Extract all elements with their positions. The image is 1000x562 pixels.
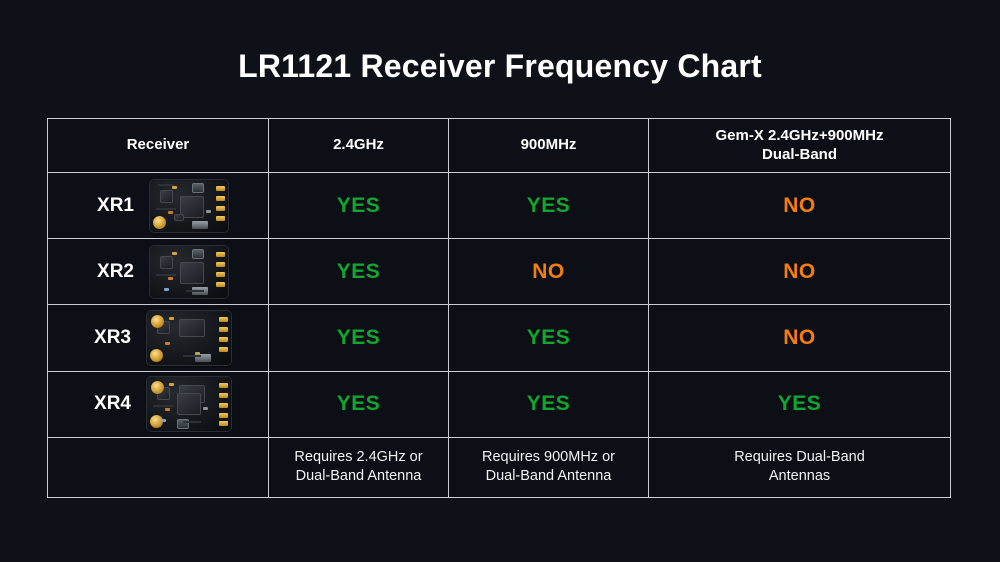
value-xr3-dual-band: NO bbox=[783, 326, 816, 349]
page-title: LR1121 Receiver Frequency Chart bbox=[0, 48, 1000, 85]
note-text-dual-band: Requires Dual-Band Antennas bbox=[649, 448, 950, 487]
note-900mhz-line1: Requires 900MHz or bbox=[482, 449, 615, 465]
pcb-board-xr3-image bbox=[147, 311, 231, 365]
cell-xr3-2-4ghz: YES bbox=[269, 305, 449, 371]
table-row: XR2 bbox=[48, 239, 951, 305]
receiver-frequency-table: Receiver 2.4GHz 900MHz Gem-X 2.4GHz+900M… bbox=[47, 118, 951, 498]
note-text-900mhz: Requires 900MHz or Dual-Band Antenna bbox=[449, 448, 648, 487]
cell-xr1-2-4ghz: YES bbox=[269, 173, 449, 239]
value-xr2-900mhz: NO bbox=[532, 260, 565, 283]
note-text-2-4ghz: Requires 2.4GHz or Dual-Band Antenna bbox=[269, 448, 448, 487]
receiver-label-xr1: XR1 bbox=[88, 195, 134, 217]
receiver-label-xr2: XR2 bbox=[88, 261, 134, 283]
pcb-board-xr4-image bbox=[147, 377, 231, 431]
receiver-label-xr3: XR3 bbox=[85, 327, 131, 349]
table-row: XR4 bbox=[48, 371, 951, 437]
note-cell-900mhz: Requires 900MHz or Dual-Band Antenna bbox=[449, 437, 649, 497]
value-xr4-900mhz: YES bbox=[527, 392, 571, 415]
cell-xr2-2-4ghz: YES bbox=[269, 239, 449, 305]
cell-xr4-dual-band: YES bbox=[649, 371, 951, 437]
pcb-board-xr1-image bbox=[150, 180, 228, 232]
table-row: XR3 bbox=[48, 305, 951, 371]
note-cell-2-4ghz: Requires 2.4GHz or Dual-Band Antenna bbox=[269, 437, 449, 497]
header-cell-receiver: Receiver bbox=[48, 119, 269, 173]
cell-xr1-dual-band: NO bbox=[649, 173, 951, 239]
header-cell-900mhz: 900MHz bbox=[449, 119, 649, 173]
header-cell-dual-band: Gem-X 2.4GHz+900MHz Dual-Band bbox=[649, 119, 951, 173]
value-xr3-900mhz: YES bbox=[527, 326, 571, 349]
receiver-cell-xr2: XR2 bbox=[48, 239, 269, 305]
value-xr3-2-4ghz: YES bbox=[337, 326, 381, 349]
header-dual-band-line1: Gem-X 2.4GHz+900MHz bbox=[716, 127, 884, 144]
value-xr1-dual-band: NO bbox=[783, 194, 816, 217]
header-label-dual-band: Gem-X 2.4GHz+900MHz Dual-Band bbox=[649, 127, 950, 165]
receiver-cell-xr4: XR4 bbox=[48, 371, 269, 437]
receiver-cell-xr3: XR3 bbox=[48, 305, 269, 371]
cell-xr2-900mhz: NO bbox=[449, 239, 649, 305]
cell-xr2-dual-band: NO bbox=[649, 239, 951, 305]
table-header-row: Receiver 2.4GHz 900MHz Gem-X 2.4GHz+900M… bbox=[48, 119, 951, 173]
table-row: XR1 bbox=[48, 173, 951, 239]
value-xr1-2-4ghz: YES bbox=[337, 194, 381, 217]
note-cell-empty bbox=[48, 437, 269, 497]
header-label-2-4ghz: 2.4GHz bbox=[269, 136, 448, 155]
cell-xr4-900mhz: YES bbox=[449, 371, 649, 437]
frequency-chart-page: LR1121 Receiver Frequency Chart Receiver… bbox=[0, 0, 1000, 562]
cell-xr4-2-4ghz: YES bbox=[269, 371, 449, 437]
table-note-row: Requires 2.4GHz or Dual-Band Antenna Req… bbox=[48, 437, 951, 497]
value-xr1-900mhz: YES bbox=[527, 194, 571, 217]
note-dual-band-line2: Antennas bbox=[769, 468, 830, 484]
header-dual-band-line2: Dual-Band bbox=[762, 146, 837, 163]
pcb-board-xr2-image bbox=[150, 246, 228, 298]
cell-xr1-900mhz: YES bbox=[449, 173, 649, 239]
cell-xr3-dual-band: NO bbox=[649, 305, 951, 371]
header-label-900mhz: 900MHz bbox=[449, 136, 648, 155]
header-cell-2-4ghz: 2.4GHz bbox=[269, 119, 449, 173]
note-2-4ghz-line2: Dual-Band Antenna bbox=[296, 468, 422, 484]
value-xr2-2-4ghz: YES bbox=[337, 260, 381, 283]
receiver-label-xr4: XR4 bbox=[85, 393, 131, 415]
receiver-cell-xr1: XR1 bbox=[48, 173, 269, 239]
value-xr2-dual-band: NO bbox=[783, 260, 816, 283]
value-xr4-dual-band: YES bbox=[778, 392, 822, 415]
note-cell-dual-band: Requires Dual-Band Antennas bbox=[649, 437, 951, 497]
header-label-receiver: Receiver bbox=[48, 136, 268, 155]
note-dual-band-line1: Requires Dual-Band bbox=[734, 449, 865, 465]
cell-xr3-900mhz: YES bbox=[449, 305, 649, 371]
note-2-4ghz-line1: Requires 2.4GHz or bbox=[294, 449, 422, 465]
note-900mhz-line2: Dual-Band Antenna bbox=[486, 468, 612, 484]
value-xr4-2-4ghz: YES bbox=[337, 392, 381, 415]
